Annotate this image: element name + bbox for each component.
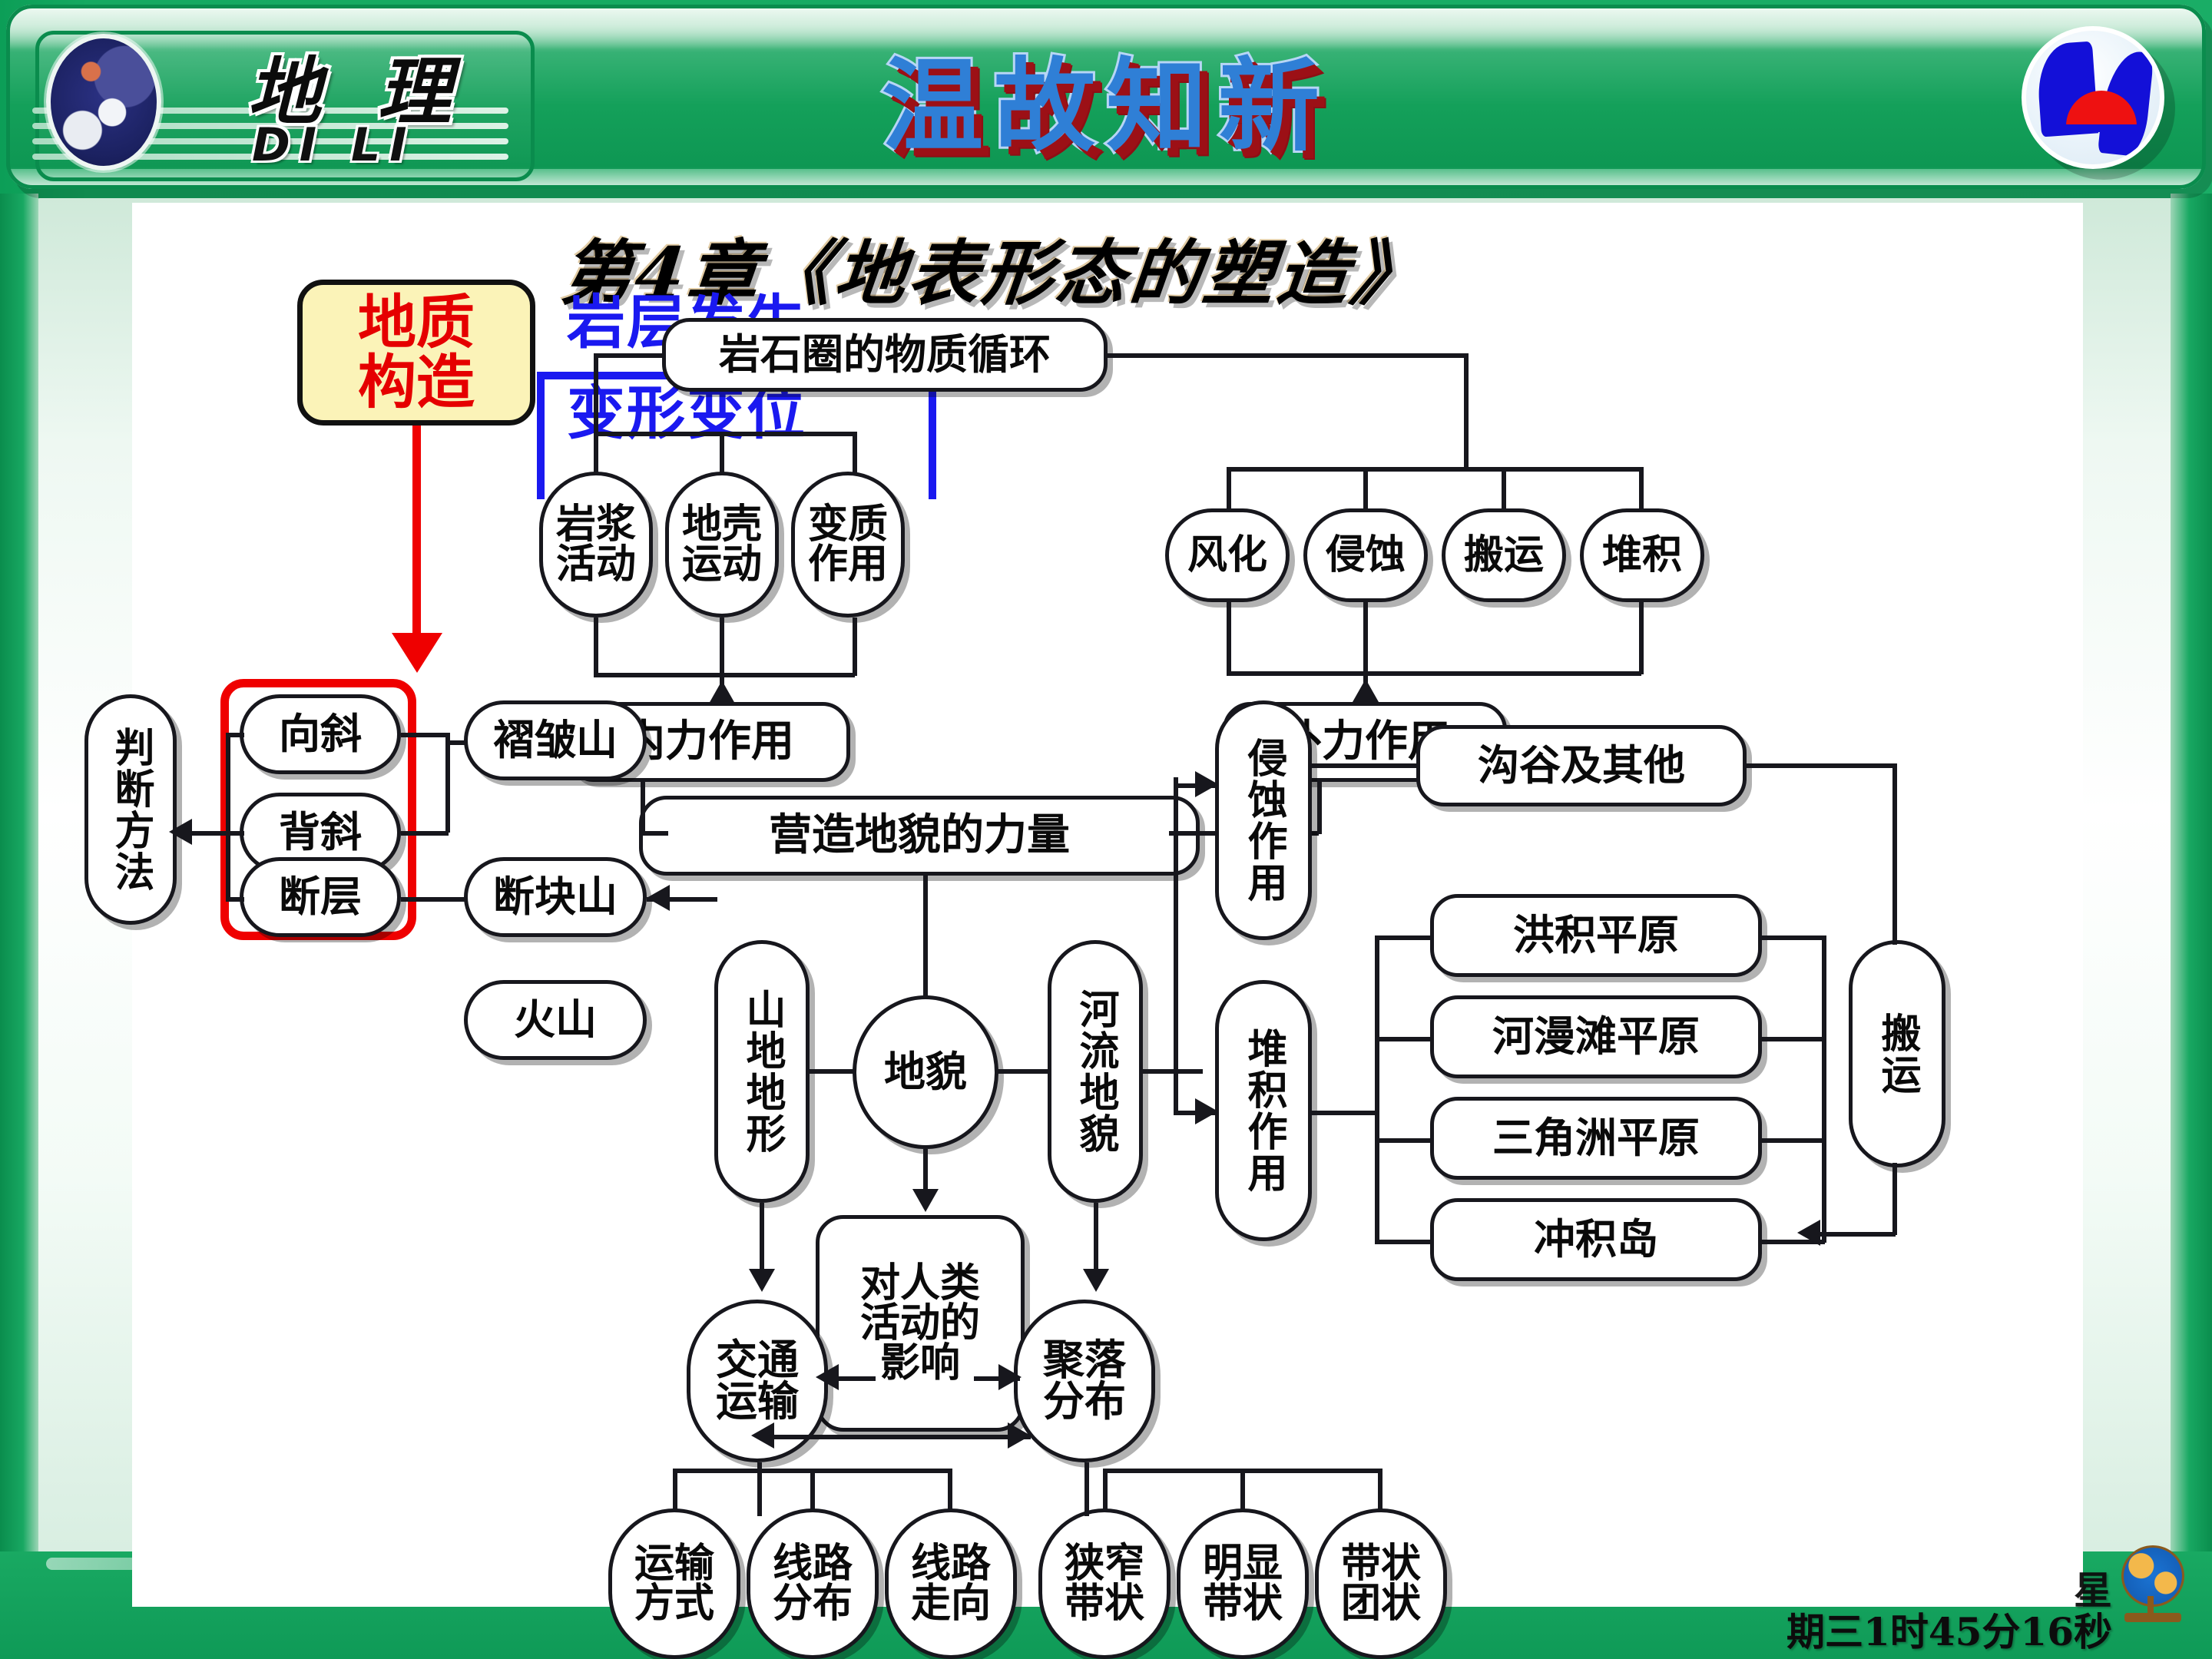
line-depos-fan-bus [1375, 935, 1379, 1240]
line-river-to-right [1143, 1069, 1203, 1074]
line-internal-bus-drop [594, 353, 598, 435]
node-fault: 断层 [240, 857, 401, 937]
line-external-bus [1227, 467, 1641, 472]
line-fault-right [401, 897, 467, 902]
line-ext-tick-3 [1502, 467, 1506, 510]
key-concept-box: 地质 构造 [297, 280, 535, 426]
line-internal-tick-2 [720, 432, 724, 473]
node-settlement: 聚落 分布 [1014, 1300, 1155, 1462]
line-fan-s2 [1240, 1469, 1245, 1512]
line-ext-tick-2 [1363, 467, 1368, 510]
node-transport: 搬运 [1442, 508, 1566, 602]
node-river-landform-label: 河流地貌 [1075, 988, 1115, 1154]
node-transport-mode: 运输 方式 [608, 1508, 740, 1659]
line-external-to-builders-v [1317, 780, 1322, 834]
line-fan-t1 [673, 1469, 677, 1512]
line-gully-right-drop [1892, 763, 1897, 945]
line-folds-bus [445, 733, 450, 833]
line-external-right-drop [1464, 353, 1469, 470]
node-belt-cluster: 带状 团状 [1315, 1508, 1447, 1659]
node-weathering: 风化 [1165, 508, 1290, 602]
node-deposition-action: 堆积作用 [1215, 980, 1312, 1241]
line-internal-to-builders-h [641, 831, 668, 836]
node-deposition: 堆积 [1580, 508, 1704, 602]
line-struct-tick-2 [226, 831, 244, 836]
node-magma-activity: 岩浆 活动 [539, 472, 653, 618]
arrow-river-down [1083, 1269, 1109, 1292]
line-depos-t1 [1375, 935, 1433, 940]
arrow-terrain-down [749, 1269, 775, 1292]
key-concept-line1: 地质 [358, 293, 475, 353]
line-plain-r2 [1762, 1037, 1825, 1041]
line-depos-t4 [1375, 1240, 1433, 1244]
line-weather-down [1227, 601, 1231, 674]
node-deposition-action-label: 堆积作用 [1243, 1028, 1283, 1194]
line-depos-t2 [1375, 1037, 1433, 1041]
node-route-distribution: 线路 分布 [747, 1508, 879, 1659]
arrow-blockmountain-left [647, 885, 670, 911]
line-plain-r1 [1762, 935, 1825, 940]
arrow-human-to-settlement [998, 1364, 1022, 1390]
node-fold-mountain: 褶皱山 [464, 700, 647, 780]
node-delta-plain: 三角洲平原 [1430, 1097, 1762, 1180]
node-landform-builders: 营造地貌的力量 [639, 796, 1200, 876]
frame-left-edge [0, 194, 38, 1567]
node-alluvial-island: 冲积岛 [1430, 1198, 1762, 1281]
line-depos-out [1312, 1111, 1378, 1115]
highlight-arrow-head [392, 633, 442, 673]
arrow-transport-left [751, 1422, 774, 1449]
arrow-settlement-right [1008, 1422, 1031, 1449]
line-human-to-transport [833, 1376, 876, 1381]
line-internal-to-builders-v [641, 780, 645, 834]
arrow-landform-down [912, 1189, 939, 1212]
line-ext-tick-4 [1639, 467, 1644, 510]
node-narrow-belt: 狭窄 带状 [1038, 1508, 1171, 1659]
line-river-to-settlement [1094, 1203, 1098, 1273]
node-erosion-action-label: 侵蚀作用 [1243, 737, 1283, 903]
line-gully-to-right [1747, 763, 1897, 768]
header-outline [6, 5, 2206, 189]
line-plain-r3 [1762, 1138, 1825, 1143]
node-river-landform: 河流地貌 [1048, 940, 1143, 1203]
node-rock-cycle: 岩石圈的物质循环 [662, 318, 1108, 392]
node-volcano: 火山 [464, 980, 647, 1060]
slide-canvas: 第4章《地表形态的塑造》 地质 构造 岩层发生 变形变位 岩石圈的物质循环 岩浆… [132, 203, 2083, 1607]
clock-readout: 星 期三1时45分16秒 [1786, 1570, 2112, 1653]
line-internal-tick-3 [853, 432, 857, 473]
line-fan-t2 [810, 1469, 815, 1512]
line-struct-to-judge [187, 831, 227, 836]
line-internal-tick-1 [594, 432, 598, 473]
line-depos-down [1639, 601, 1644, 674]
arrow-right-erosion [1195, 771, 1218, 797]
line-landform-to-river [997, 1069, 1051, 1074]
line-terrain-to-transport [760, 1203, 764, 1273]
node-obvious-belt: 明显 带状 [1177, 1508, 1309, 1659]
line-mountain-to-landform [806, 1069, 854, 1074]
node-erosion: 侵蚀 [1303, 508, 1428, 602]
node-crust-movement: 地壳 运动 [665, 472, 779, 618]
frame-right-edge [2171, 194, 2212, 1567]
line-rockcycle-left [596, 353, 665, 358]
clock-line1: 星 [1786, 1570, 2112, 1611]
line-struct-bus [226, 733, 230, 902]
arrow-transport-right-in [1797, 1220, 1820, 1246]
clock-line2: 期三1时45分16秒 [1786, 1611, 2112, 1653]
line-internal-collect [594, 673, 855, 677]
node-judge-method: 判断方法 [84, 694, 177, 925]
node-transport-right: 搬运 [1849, 940, 1945, 1167]
line-plains-right-bus [1822, 935, 1826, 1243]
node-gully-other: 沟谷及其他 [1416, 725, 1747, 806]
line-landform-to-human [923, 1149, 928, 1194]
line-fan-t3 [948, 1469, 952, 1512]
line-anticline-right [401, 831, 449, 836]
line-depos-t3 [1375, 1138, 1433, 1143]
line-transport-settlement [770, 1435, 1031, 1439]
line-erosion-to-gully [1312, 763, 1419, 768]
node-judge-method-label: 判断方法 [111, 727, 151, 892]
node-syncline: 向斜 [240, 694, 401, 774]
line-struct-tick-1 [226, 733, 244, 737]
line-transport-right-in [1814, 1232, 1896, 1237]
line-folds-to-mountain [445, 740, 467, 745]
node-alluvial-fan-plain: 洪积平原 [1430, 894, 1762, 977]
node-erosion-action: 侵蚀作用 [1215, 700, 1312, 940]
node-floodplain: 河漫滩平原 [1430, 995, 1762, 1078]
line-internal-bus [594, 432, 855, 436]
node-block-mountain: 断块山 [464, 857, 647, 937]
arrow-right-depos [1195, 1098, 1218, 1124]
arrow-external-up [1353, 679, 1379, 702]
node-human-impact: 对人类 活动的 影响 [816, 1215, 1025, 1432]
node-transport-right-label: 搬运 [1877, 1012, 1917, 1095]
line-struct-tick-3 [226, 897, 244, 902]
line-syncline-right [401, 733, 449, 737]
line-builders-to-landform [923, 873, 928, 998]
line-ext-tick-1 [1227, 467, 1231, 510]
line-meta-down [853, 618, 857, 676]
line-external-up-stem [1363, 601, 1368, 687]
line-fan-s1 [1103, 1469, 1108, 1512]
line-right-bus [1174, 777, 1178, 1115]
line-transport-right-down [1892, 1163, 1897, 1235]
node-metamorphism: 变质 作用 [791, 472, 905, 618]
slide-stage: 地 理 DI LI 温故知新 第4章《地表形态的塑造》 地质 构造 岩层发生 变… [0, 0, 2212, 1659]
line-fan-s3 [1378, 1469, 1382, 1512]
line-settlement-fanout [1084, 1462, 1089, 1516]
line-rockcycle-right [1108, 353, 1469, 358]
line-magma-down [594, 618, 598, 676]
desk-globe-icon [2112, 1545, 2192, 1627]
arrow-judge-left [169, 819, 192, 845]
arrow-human-to-transport [816, 1364, 839, 1390]
node-mountain-terrain-label: 山地地形 [742, 988, 782, 1154]
node-mountain-terrain: 山地地形 [714, 940, 810, 1203]
node-landform: 地貌 [853, 995, 998, 1149]
arrow-internal-up [709, 680, 735, 704]
line-external-collect [1227, 671, 1641, 676]
key-concept-line2: 构造 [358, 353, 475, 412]
node-route-direction: 线路 走向 [885, 1508, 1017, 1659]
highlight-arrow-line [412, 426, 421, 656]
